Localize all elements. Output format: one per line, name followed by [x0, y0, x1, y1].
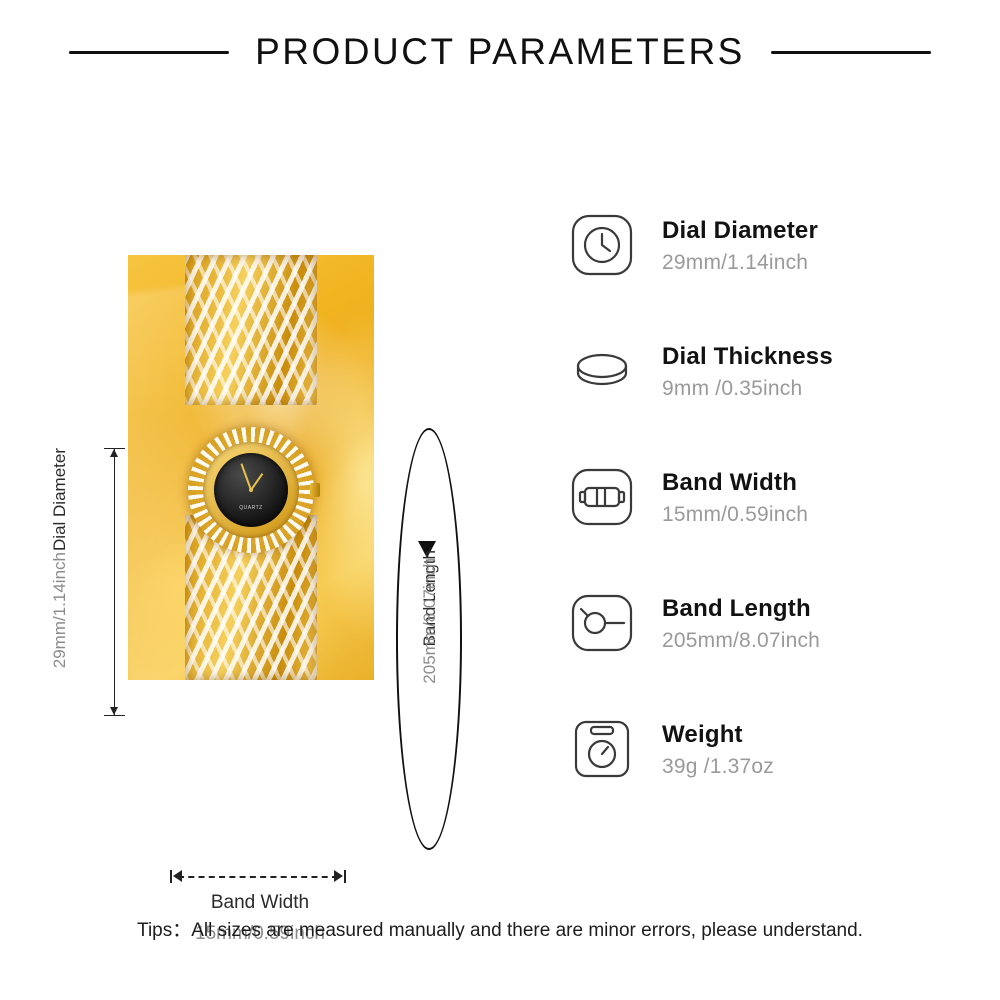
- watch-crown: [310, 483, 320, 497]
- spec-text: Weight 39g /1.37oz: [662, 720, 774, 779]
- arrow-down-icon: [110, 707, 118, 715]
- dimension-tick-left: [170, 870, 172, 883]
- photo-band-length-value: 205mm/8.07inch: [420, 558, 440, 684]
- dial-diameter-dimension-line: [96, 442, 130, 722]
- watch-bezel: QUARTZ: [203, 442, 299, 538]
- watch-case: QUARTZ: [188, 427, 314, 553]
- spec-row-weight: Weight 39g /1.37oz: [568, 686, 988, 812]
- spec-text: Dial Diameter 29mm/1.14inch: [662, 216, 818, 275]
- dial-center-pin: [249, 488, 253, 492]
- spec-value: 29mm/1.14inch: [662, 251, 818, 275]
- dimension-tick-right: [344, 870, 346, 883]
- photo-dial-diameter-value: 29mm/1.14inch: [50, 552, 70, 668]
- spec-text: Dial Thickness 9mm /0.35inch: [662, 342, 833, 401]
- product-photo-area: QUARTZ Dial Diameter 29mm/1.14inch Band …: [0, 180, 520, 820]
- band-width-icon: [568, 463, 636, 531]
- spec-label: Weight: [662, 720, 774, 750]
- spec-text: Band Length 205mm/8.07inch: [662, 594, 820, 653]
- spec-text: Band Width 15mm/0.59inch: [662, 468, 808, 527]
- arrow-up-icon: [110, 449, 118, 457]
- spec-value: 39g /1.37oz: [662, 755, 774, 779]
- spec-label: Band Width: [662, 468, 808, 498]
- minute-hand-icon: [240, 463, 251, 490]
- page-header: PRODUCT PARAMETERS: [0, 22, 1000, 82]
- spec-label: Dial Diameter: [662, 216, 818, 246]
- band-width-dimension-line: [170, 870, 346, 884]
- spec-row-band-width: Band Width 15mm/0.59inch: [568, 434, 988, 560]
- dimension-cap-bottom: [104, 715, 125, 716]
- dial-thickness-icon: [568, 337, 636, 405]
- dial-brand-text: QUARTZ: [214, 505, 288, 511]
- arrow-right-icon: [334, 870, 343, 882]
- spec-row-dial-thickness: Dial Thickness 9mm /0.35inch: [568, 308, 988, 434]
- header-rule-right: [771, 51, 931, 54]
- dimension-line: [178, 876, 338, 878]
- watch-band-upper: [185, 255, 317, 405]
- photo-band-width-label: Band Width: [130, 892, 390, 914]
- spec-row-dial-diameter: Dial Diameter 29mm/1.14inch: [568, 182, 988, 308]
- photo-dial-diameter-label: Dial Diameter: [50, 448, 70, 551]
- spec-value: 9mm /0.35inch: [662, 377, 833, 401]
- dimension-line: [114, 448, 115, 716]
- product-photo: QUARTZ: [128, 255, 374, 680]
- spec-label: Dial Thickness: [662, 342, 833, 372]
- arrow-left-icon: [173, 870, 182, 882]
- header-rule-left: [69, 51, 229, 54]
- spec-value: 15mm/0.59inch: [662, 503, 808, 527]
- band-length-icon: [568, 589, 636, 657]
- spec-list: Dial Diameter 29mm/1.14inch Dial Thickne…: [568, 182, 988, 812]
- watch-dial-icon: [568, 211, 636, 279]
- spec-value: 205mm/8.07inch: [662, 629, 820, 653]
- watch-dial: QUARTZ: [214, 453, 288, 527]
- spec-label: Band Length: [662, 594, 820, 624]
- spec-row-band-length: Band Length 205mm/8.07inch: [568, 560, 988, 686]
- scale-icon: [568, 715, 636, 783]
- tips-text: Tips：All sizes are measured manually and…: [0, 915, 1000, 942]
- page-title: PRODUCT PARAMETERS: [255, 31, 745, 73]
